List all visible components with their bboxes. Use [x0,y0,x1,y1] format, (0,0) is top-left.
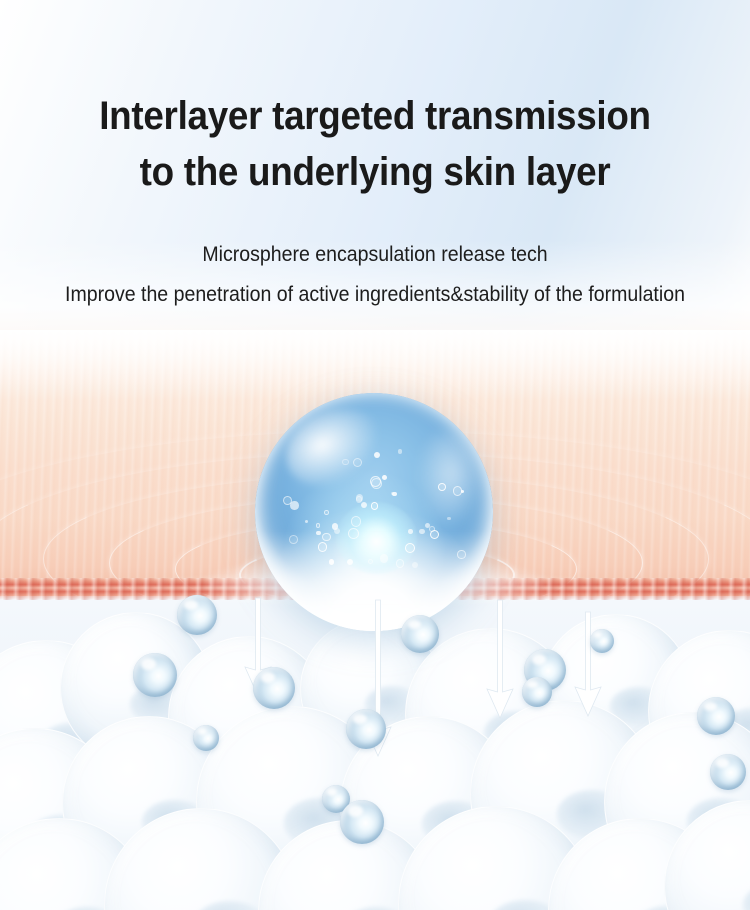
microsphere-rim [255,393,493,631]
active-ingredient-droplet [346,709,386,749]
microsphere-inner-bubble [382,475,387,480]
microsphere-inner-bubble [290,501,298,509]
microsphere-inner-bubble [351,516,362,527]
active-ingredient-droplet [590,629,614,653]
microsphere-inner-bubble [316,523,321,528]
subtitle-line-2: Improve the penetration of active ingred… [26,281,724,309]
microsphere-inner-bubble [408,529,413,534]
page-title: Interlayer targeted transmission to the … [30,88,720,200]
microsphere-inner-bubble [368,559,373,564]
active-ingredient-droplet [340,800,384,844]
microsphere-inner-bubble [318,542,327,551]
microsphere-inner-bubble [392,492,397,497]
active-ingredient-droplet [522,677,552,707]
penetration-arrow-right [485,600,515,722]
active-ingredient-droplet [710,754,746,790]
microsphere-inner-bubble [419,529,425,535]
microsphere-inner-bubble [438,483,446,491]
microsphere-body [255,393,493,631]
microsphere-inner-bubble [348,528,359,539]
microsphere-inner-bubble [289,535,298,544]
active-ingredient-droplet [253,667,295,709]
active-ingredient-droplet [193,725,219,751]
microsphere-inner-bubble [412,562,418,568]
microsphere-inner-bubble [361,502,367,508]
microsphere-inner-bubble [457,550,465,558]
microsphere-inner-bubble [356,494,363,501]
cell-nucleus [743,883,750,910]
encapsulated-microsphere [255,393,493,631]
microsphere-inner-bubble [447,517,450,520]
subtitle-line-1: Microsphere encapsulation release tech [26,241,724,269]
poster-root: Interlayer targeted transmission to the … [0,0,750,910]
active-ingredient-droplet [133,653,177,697]
cell-nucleus [193,901,266,910]
microsphere-inner-bubble [322,533,330,541]
penetration-arrow-far-right [573,612,603,720]
active-ingredient-droplet [401,615,439,653]
active-ingredient-droplet [177,595,217,635]
microsphere-inner-bubble [332,523,339,530]
microsphere-inner-bubble [380,554,388,562]
page-title-line-2: to the underlying skin layer [30,144,720,200]
microsphere-inner-bubble [324,510,329,515]
microsphere-inner-bubble [371,502,378,509]
page-title-line-1: Interlayer targeted transmission [30,88,720,144]
microsphere-inner-bubble [342,459,348,465]
microsphere-inner-bubble [371,478,382,489]
microsphere-inner-bubble [347,559,353,565]
active-ingredient-droplet [697,697,735,735]
